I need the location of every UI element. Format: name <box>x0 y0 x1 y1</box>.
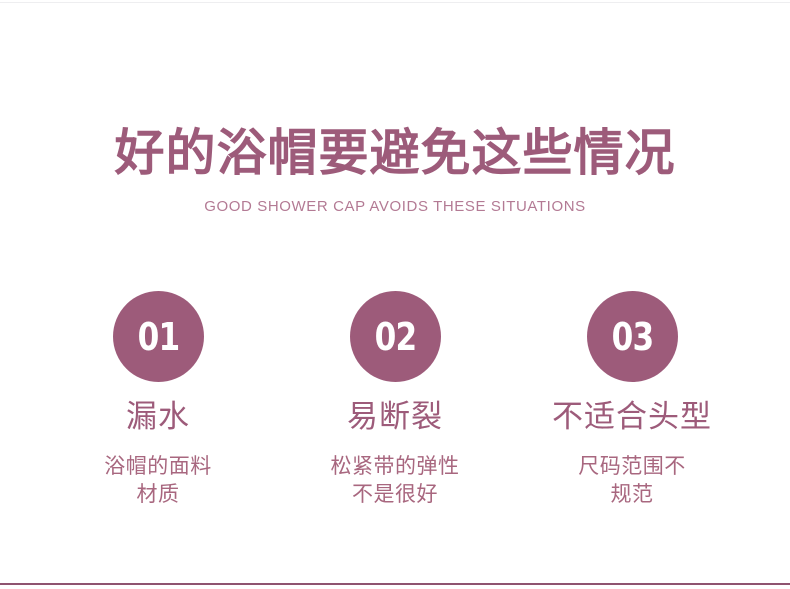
feature-desc-02: 松紧带的弹性 不是很好 <box>331 452 460 508</box>
feature-desc-line: 松紧带的弹性 <box>331 452 460 480</box>
number-badge-circle-02: 02 <box>350 291 441 382</box>
number-badge-circle-03: 03 <box>587 291 678 382</box>
top-divider <box>0 2 790 3</box>
feature-column-03: 03 不适合头型 尺码范围不 规范 <box>519 291 745 508</box>
badge-number-03: 03 <box>611 318 653 356</box>
badge-number-02: 02 <box>374 318 416 356</box>
heading-block: 好的浴帽要避免这些情况 GOOD SHOWER CAP AVOIDS THESE… <box>0 124 790 216</box>
feature-columns: 01 漏水 浴帽的面料 材质 02 易断裂 松紧带的弹性 不是很好 03 不适合… <box>45 291 745 508</box>
feature-desc-line: 尺码范围不 <box>578 452 686 480</box>
shower-cap-infographic-page: 好的浴帽要避免这些情况 GOOD SHOWER CAP AVOIDS THESE… <box>0 0 790 589</box>
feature-title-01: 漏水 <box>126 399 190 435</box>
page-subtitle: GOOD SHOWER CAP AVOIDS THESE SITUATIONS <box>0 198 790 216</box>
feature-column-02: 02 易断裂 松紧带的弹性 不是很好 <box>282 291 508 508</box>
feature-desc-line: 材质 <box>104 480 212 508</box>
page-title: 好的浴帽要避免这些情况 <box>0 124 790 182</box>
feature-desc-line: 规范 <box>578 480 686 508</box>
feature-desc-03: 尺码范围不 规范 <box>578 452 686 508</box>
bottom-divider <box>0 583 790 585</box>
feature-title-03: 不适合头型 <box>552 399 712 435</box>
feature-desc-01: 浴帽的面料 材质 <box>104 452 212 508</box>
feature-title-02: 易断裂 <box>347 399 443 435</box>
feature-column-01: 01 漏水 浴帽的面料 材质 <box>45 291 271 508</box>
number-badge-circle-01: 01 <box>113 291 204 382</box>
feature-desc-line: 浴帽的面料 <box>104 452 212 480</box>
badge-number-01: 01 <box>137 318 179 356</box>
feature-desc-line: 不是很好 <box>331 480 460 508</box>
